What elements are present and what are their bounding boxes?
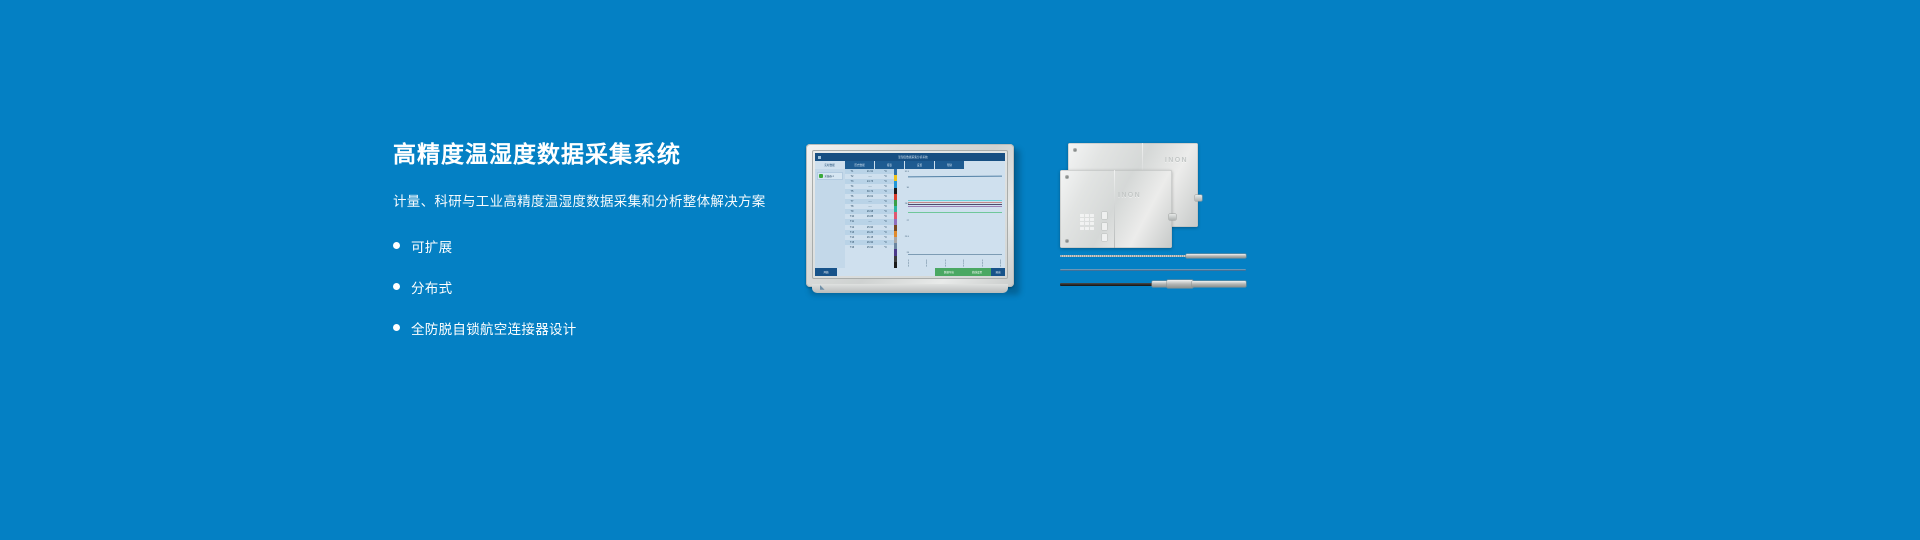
brand-logo-front: INON: [1118, 192, 1141, 199]
realtime-chart: 31.53028.52725.524 14:20:1014:20:4014:21…: [897, 169, 1005, 268]
chart-x-axis: 14:20:1014:20:4014:21:1014:21:4014:22:10…: [908, 254, 1002, 267]
cell-value: 25.90: [859, 226, 881, 229]
connector-body: [1167, 280, 1193, 287]
cell-unit: °C: [881, 246, 890, 249]
cell-channel: T11: [845, 220, 859, 223]
cell-value: ----: [859, 220, 881, 223]
cell-unit: °C: [881, 205, 890, 208]
feature-list: 可扩展 分布式 全防脱自锁航空连接器设计: [393, 233, 813, 341]
page-subtitle: 计量、科研与工业高精度温湿度数据采集和分析整体解决方案: [393, 190, 813, 210]
x-tick-label: 14:22:10: [982, 255, 984, 267]
cell-unit: °C: [881, 195, 890, 198]
sidebar-item-label: 采集器-1: [825, 174, 834, 178]
cell-channel: T10: [845, 215, 859, 218]
cell-channel: T9: [845, 210, 859, 213]
tab-4[interactable]: 帮助: [935, 161, 965, 169]
sensor-housing: [1192, 281, 1246, 288]
table-row[interactable]: T16 25.94 °C: [845, 245, 894, 250]
cell-unit: °C: [881, 185, 890, 188]
cell-value: 25.94: [859, 246, 881, 249]
curve-settings-button[interactable]: 曲线设置: [963, 268, 991, 276]
cell-value: 24.73: [859, 180, 881, 183]
feature-label: 分布式: [411, 277, 452, 297]
cell-channel: T6: [845, 195, 859, 198]
tab-1[interactable]: 历史数据: [845, 161, 875, 169]
panel-pc-device: 温湿度数据采集分析系统 实时数据历史数据报表设置帮助 采集器-1 T1 21.9…: [806, 144, 1020, 294]
cell-unit: °C: [881, 215, 890, 218]
cell-channel: T15: [845, 241, 859, 244]
terminal-block-etching: [1080, 214, 1094, 230]
cell-channel: T4: [845, 185, 859, 188]
connector-etching: [1102, 223, 1107, 230]
cell-value: ----: [859, 175, 881, 178]
sensor-table: T1 21.91 °C T2 ---- °C T3 24.73 °C T4 --…: [845, 169, 894, 268]
chart-series-T9: [908, 206, 1002, 207]
feature-label: 全防脱自锁航空连接器设计: [411, 318, 577, 338]
cell-channel: T1: [845, 170, 859, 173]
app-icon: [818, 156, 821, 159]
cell-value: 26.20: [859, 231, 881, 234]
cell-channel: T5: [845, 190, 859, 193]
vendor-logo-icon: ◣: [820, 286, 825, 291]
start-button[interactable]: 开始: [815, 268, 837, 276]
status-online-icon: [819, 174, 823, 178]
cell-channel: T8: [845, 205, 859, 208]
hardware-group: INON INON: [1060, 143, 1250, 298]
cell-unit: °C: [881, 175, 890, 178]
monitor-bezel: 温湿度数据采集分析系统 实时数据历史数据报表设置帮助 采集器-1 T1 21.9…: [806, 144, 1014, 287]
app-body: 采集器-1 T1 21.91 °C T2 ---- °C T3 24.73 °C…: [815, 169, 1005, 268]
module-seam: [1114, 170, 1115, 248]
cell-value: 21.91: [859, 170, 881, 173]
probe-cable: [1060, 269, 1246, 271]
feature-label: 可扩展: [411, 236, 452, 256]
screw-icon: [1065, 239, 1069, 243]
cell-value: 30.72: [859, 190, 881, 193]
list-item: 可扩展: [393, 233, 813, 259]
list-item: 全防脱自锁航空连接器设计: [393, 315, 813, 341]
cell-value: 26.90: [859, 241, 881, 244]
chart-series-T3: [908, 202, 1002, 203]
device-sidebar: 采集器-1: [815, 169, 845, 268]
screw-icon: [1065, 175, 1069, 179]
brand-logo-back: INON: [1165, 157, 1188, 164]
app-title: 温湿度数据采集分析系统: [824, 155, 1002, 159]
bullet-dot-icon: [393, 324, 400, 331]
connector-collar: [1152, 281, 1168, 286]
tab-0[interactable]: 实时数据: [815, 161, 845, 169]
connector-etching: [1102, 234, 1107, 241]
cell-channel: T14: [845, 236, 859, 239]
cell-unit: °C: [881, 210, 890, 213]
software-screen: 温湿度数据采集分析系统 实时数据历史数据报表设置帮助 采集器-1 T1 21.9…: [815, 153, 1005, 276]
x-tick-label: 14:20:10: [908, 255, 910, 267]
cell-channel: T13: [845, 231, 859, 234]
cell-unit: °C: [881, 226, 890, 229]
cell-unit: °C: [881, 231, 890, 234]
probe-tip: [1186, 254, 1246, 258]
x-tick-label: 14:21:40: [963, 255, 965, 267]
cell-unit: °C: [881, 241, 890, 244]
app-footer: 开始 数据导出 曲线设置 退出: [815, 268, 1005, 276]
cell-unit: °C: [881, 170, 890, 173]
cell-channel: T3: [845, 180, 859, 183]
tab-3[interactable]: 设置: [905, 161, 935, 169]
x-tick-label: 14:22:40: [1000, 255, 1002, 267]
monitor-inner-frame: 温湿度数据采集分析系统 实时数据历史数据报表设置帮助 采集器-1 T1 21.9…: [812, 150, 1008, 279]
cell-value: 26.61: [859, 195, 881, 198]
cell-unit: °C: [881, 190, 890, 193]
cell-value: ----: [859, 185, 881, 188]
x-tick-label: 14:21:10: [945, 255, 947, 267]
tab-2[interactable]: 报表: [875, 161, 905, 169]
exit-button[interactable]: 退出: [991, 268, 1005, 276]
connector-port: [1195, 195, 1202, 201]
list-item: 分布式: [393, 274, 813, 300]
cell-channel: T7: [845, 200, 859, 203]
x-tick-label: 14:20:40: [926, 255, 928, 267]
cell-channel: T12: [845, 226, 859, 229]
cell-value: 26.98: [859, 210, 881, 213]
acquisition-module-front: INON: [1060, 170, 1172, 248]
export-button[interactable]: 数据导出: [935, 268, 963, 276]
cell-unit: °C: [881, 200, 890, 203]
cell-value: 26.15: [859, 236, 881, 239]
chart-plot-area: [908, 171, 1002, 254]
screw-icon: [1073, 148, 1077, 152]
cell-value: ----: [859, 200, 881, 203]
page-title: 高精度温湿度数据采集系统: [393, 140, 813, 169]
cell-value: ----: [859, 205, 881, 208]
chart-series-T6: [908, 211, 1002, 212]
cell-unit: °C: [881, 220, 890, 223]
bullet-dot-icon: [393, 283, 400, 290]
sidebar-item-collector[interactable]: 采集器-1: [817, 172, 843, 180]
monitor-base: [812, 284, 1008, 293]
cell-value: 26.88: [859, 215, 881, 218]
cell-unit: °C: [881, 236, 890, 239]
hero-copy: 高精度温湿度数据采集系统 计量、科研与工业高精度温湿度数据采集和分析整体解决方案…: [393, 140, 813, 356]
chart-series-T13: [908, 204, 1002, 205]
cell-unit: °C: [881, 180, 890, 183]
cell-channel: T2: [845, 175, 859, 178]
probe-cable: [1060, 255, 1190, 257]
connector-port: [1169, 214, 1176, 220]
app-titlebar: 温湿度数据采集分析系统: [815, 153, 1005, 161]
chart-series-T7: [908, 200, 1002, 201]
connector-etching: [1102, 212, 1107, 219]
probe-cable: [1060, 283, 1156, 286]
tab-bar: 实时数据历史数据报表设置帮助: [815, 161, 1005, 169]
cell-channel: T16: [845, 246, 859, 249]
chart-series-T5: [908, 176, 1002, 177]
bullet-dot-icon: [393, 242, 400, 249]
